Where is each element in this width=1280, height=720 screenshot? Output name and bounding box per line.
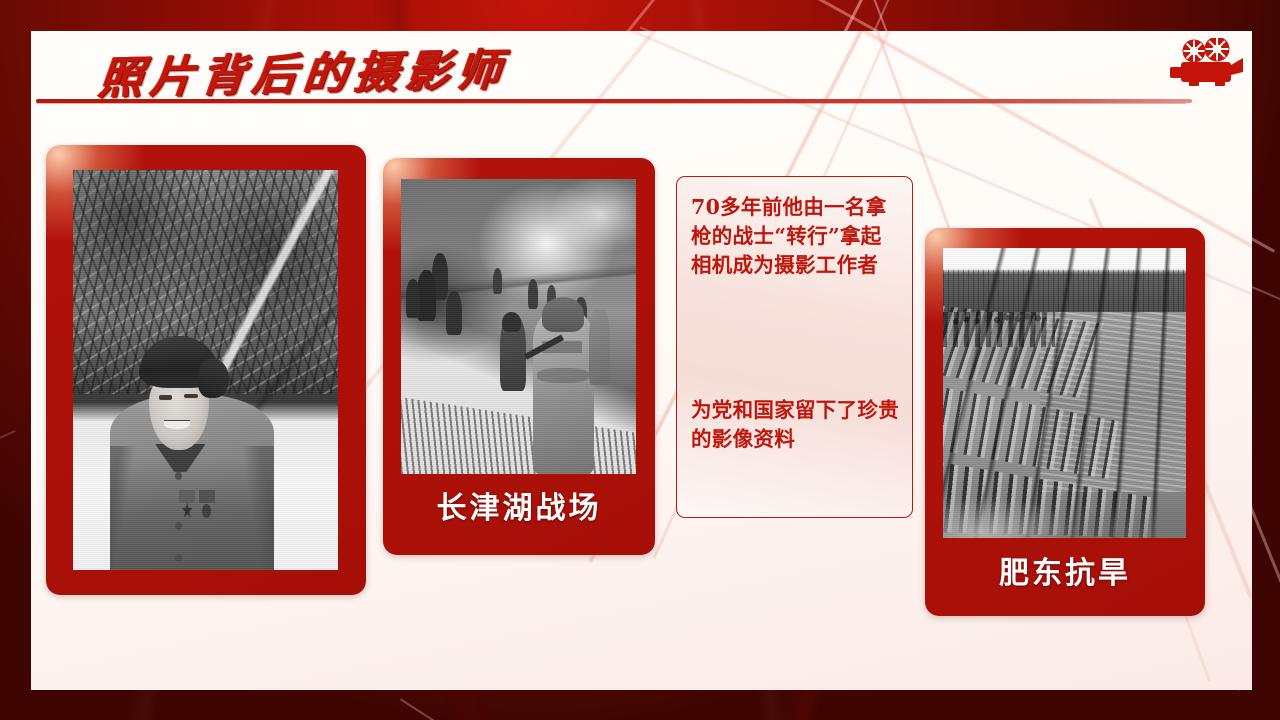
photo-battlefield [401, 179, 636, 474]
photo-card-battlefield[interactable]: 长津湖战场 [383, 158, 655, 555]
quote-box: 70多年前他由一名拿枪的战士“转行”拿起相机成为摄影工作者 为党和国家留下了珍贵… [676, 176, 913, 518]
quote-paragraph-2: 为党和国家留下了珍贵的影像资料 [691, 396, 901, 454]
title-divider-shadow [36, 103, 1186, 104]
photo-caption-battlefield: 长津湖战场 [383, 483, 655, 527]
photo-portrait [73, 170, 338, 570]
photo-card-drought[interactable]: 肥东抗旱 [925, 228, 1205, 616]
page-title: 照片背后的摄影师 [96, 34, 511, 107]
film-projector-icon [1165, 38, 1245, 86]
slide: 照片背后的摄影师 [0, 0, 1280, 720]
photo-card-portrait[interactable] [46, 145, 366, 595]
photo-drought [943, 248, 1186, 538]
quote-paragraph-1: 70多年前他由一名拿枪的战士“转行”拿起相机成为摄影工作者 [691, 193, 897, 280]
photo-caption-drought: 肥东抗旱 [925, 548, 1205, 592]
